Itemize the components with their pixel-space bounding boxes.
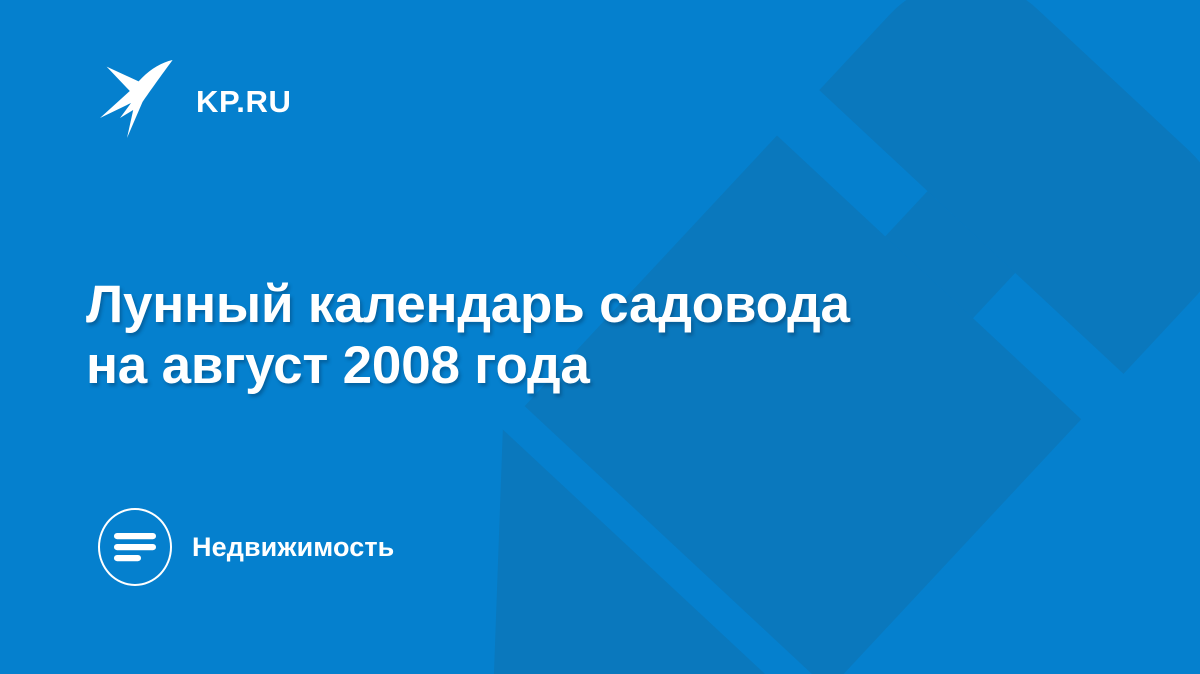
page-title-line-2: на август 2008 года bbox=[86, 335, 986, 396]
pencil-barrel-shape bbox=[525, 135, 1082, 674]
brand-wordmark: KP.RU bbox=[196, 86, 291, 117]
list-lines-icon bbox=[98, 508, 172, 586]
page-title: Лунный календарь садовода на август 2008… bbox=[86, 274, 986, 397]
brand-logo[interactable]: KP.RU bbox=[98, 58, 291, 140]
swallow-bird-icon bbox=[98, 58, 174, 140]
pencil-tip-shape bbox=[339, 429, 807, 674]
page-title-line-1: Лунный календарь садовода bbox=[86, 274, 986, 335]
category-row[interactable]: Недвижимость bbox=[98, 508, 394, 586]
share-card: KP.RU Лунный календарь садовода на авгус… bbox=[0, 0, 1200, 674]
category-label: Недвижимость bbox=[192, 534, 394, 561]
